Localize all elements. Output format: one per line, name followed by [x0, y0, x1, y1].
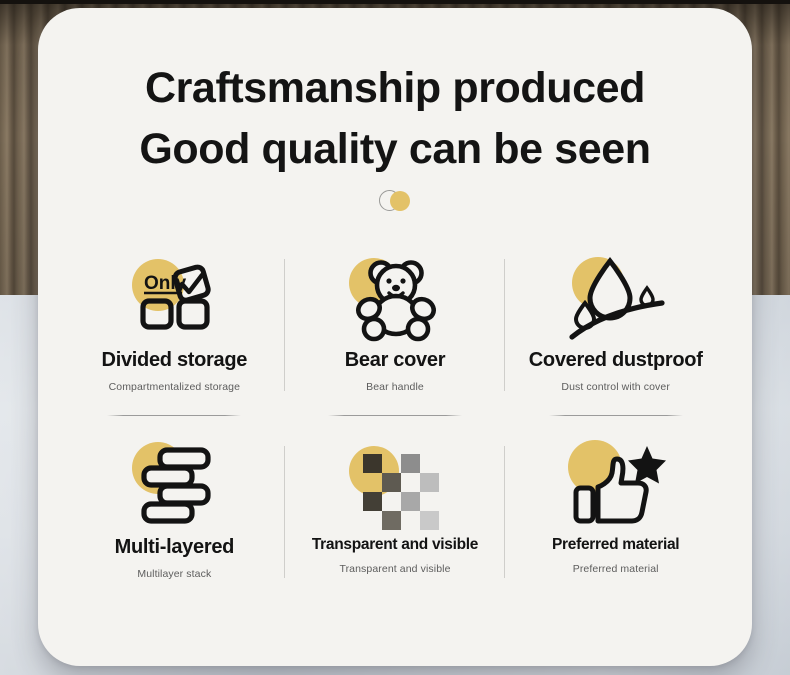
feature-multi-layered: Multi-layered Multilayer stack	[64, 432, 285, 590]
headline-line-1: Craftsmanship produced	[38, 58, 752, 119]
feature-title: Covered dustproof	[511, 349, 720, 372]
row-divider-group	[38, 415, 752, 416]
stacked-layers-icon	[120, 440, 228, 530]
row-divider	[107, 415, 241, 416]
divided-compartments-icon: Only	[120, 253, 228, 343]
feature-icon-wrap: Only	[70, 251, 279, 345]
feature-icon-wrap	[291, 438, 500, 532]
feature-icon-wrap	[511, 438, 720, 532]
feature-title: Divided storage	[70, 349, 279, 372]
water-droplet-repellent-icon	[562, 253, 670, 343]
headline-line-2: Good quality can be seen	[38, 119, 752, 180]
feature-divided-storage: Only Divided storage Compartmentalized s…	[64, 245, 285, 403]
thumbs-up-star-icon	[562, 440, 670, 530]
feature-caption: Transparent and visible	[291, 563, 500, 575]
feature-preferred-material: Preferred material Preferred material	[505, 432, 726, 590]
transparency-checkerboard-icon	[341, 440, 449, 530]
feature-card: Craftsmanship produced Good quality can …	[38, 8, 752, 666]
feature-title: Multi-layered	[70, 536, 279, 559]
feature-grid-row-1: Only Divided storage Compartmentalized s…	[38, 245, 752, 403]
ornament-dot-icon	[390, 191, 410, 211]
feature-covered-dustproof: Covered dustproof Dust control with cove…	[505, 245, 726, 403]
feature-title: Transparent and visible	[291, 536, 500, 554]
feature-caption: Multilayer stack	[70, 568, 279, 580]
feature-icon-wrap	[70, 438, 279, 532]
row-divider	[549, 415, 683, 416]
feature-grid-row-2: Multi-layered Multilayer stack	[38, 432, 752, 590]
page-title: Craftsmanship produced Good quality can …	[38, 8, 752, 180]
title-ornament	[372, 190, 418, 212]
feature-icon-wrap	[511, 251, 720, 345]
feature-caption: Dust control with cover	[511, 381, 720, 393]
feature-caption: Compartmentalized storage	[70, 381, 279, 393]
feature-caption: Preferred material	[511, 563, 720, 575]
feature-title: Preferred material	[511, 536, 720, 554]
feature-bear-cover: Bear cover Bear handle	[285, 245, 506, 403]
feature-icon-wrap	[291, 251, 500, 345]
feature-title: Bear cover	[291, 349, 500, 372]
product-feature-infographic: Craftsmanship produced Good quality can …	[0, 0, 790, 675]
row-divider	[328, 415, 462, 416]
feature-caption: Bear handle	[291, 381, 500, 393]
feature-transparent-visible: Transparent and visible Transparent and …	[285, 432, 506, 590]
teddy-bear-icon	[341, 253, 449, 343]
